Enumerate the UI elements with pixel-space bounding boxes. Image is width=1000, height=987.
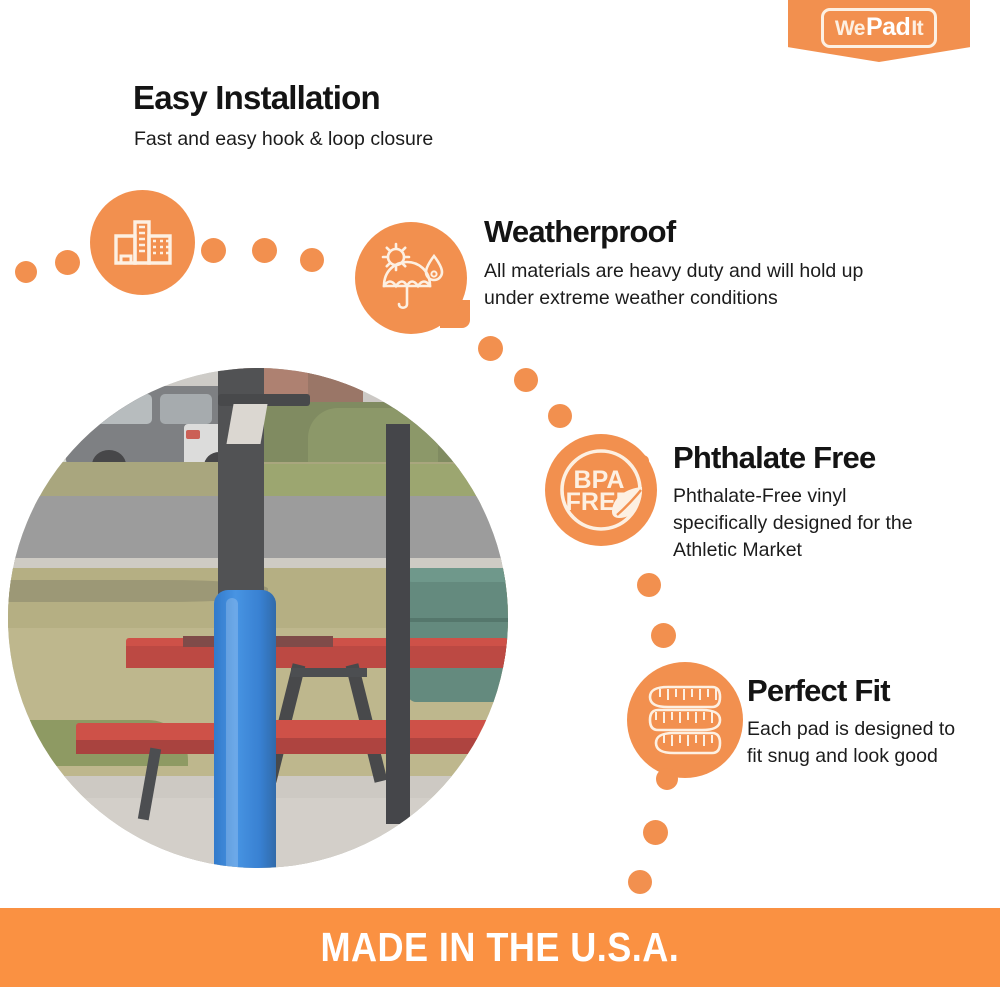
made-in-usa-text: MADE IN THE U.S.A. (321, 924, 680, 971)
logo-text-we: We (835, 17, 865, 41)
bpa-free-leaf-icon: BPA FREE (545, 434, 657, 546)
feature-title-phthalate-free: Phthalate Free (673, 440, 875, 476)
building-icon (90, 190, 195, 295)
trail-dot (514, 368, 538, 392)
trail-dot (656, 768, 678, 790)
measuring-tape-icon (627, 662, 743, 778)
feature-title-easy-installation: Easy Installation (133, 79, 380, 117)
brand-logo: We Pad It (788, 0, 970, 62)
feature-subtitle-perfect-fit: Each pad is designed to fit snug and loo… (747, 716, 975, 770)
feature-subtitle-easy-installation: Fast and easy hook & loop closure (134, 126, 433, 152)
logo-text-it: It (911, 17, 923, 41)
logo-text-pad: Pad (866, 13, 910, 42)
made-in-usa-banner: MADE IN THE U.S.A. (0, 908, 1000, 987)
trail-dot (643, 820, 668, 845)
trail-dot (252, 238, 277, 263)
trail-dot (548, 404, 572, 428)
trail-dot (651, 623, 676, 648)
trail-dot (15, 261, 37, 283)
feature-subtitle-phthalate-free: Phthalate-Free vinyl specifically design… (673, 483, 933, 564)
feature-subtitle-weatherproof: All materials are heavy duty and will ho… (484, 258, 904, 312)
trail-dot (628, 870, 652, 894)
trail-dot (55, 250, 80, 275)
feature-title-perfect-fit: Perfect Fit (747, 673, 890, 709)
product-photo (8, 368, 508, 868)
feature-title-weatherproof: Weatherproof (484, 214, 675, 250)
umbrella-sun-raindrop-icon (355, 222, 467, 334)
trail-dot (478, 336, 503, 361)
trail-dot (637, 573, 661, 597)
infographic-page: We Pad It Easy Installation Fast and eas… (0, 0, 1000, 987)
trail-dot (300, 248, 324, 272)
logo-outline-box: We Pad It (821, 8, 937, 48)
trail-dot (201, 238, 226, 263)
